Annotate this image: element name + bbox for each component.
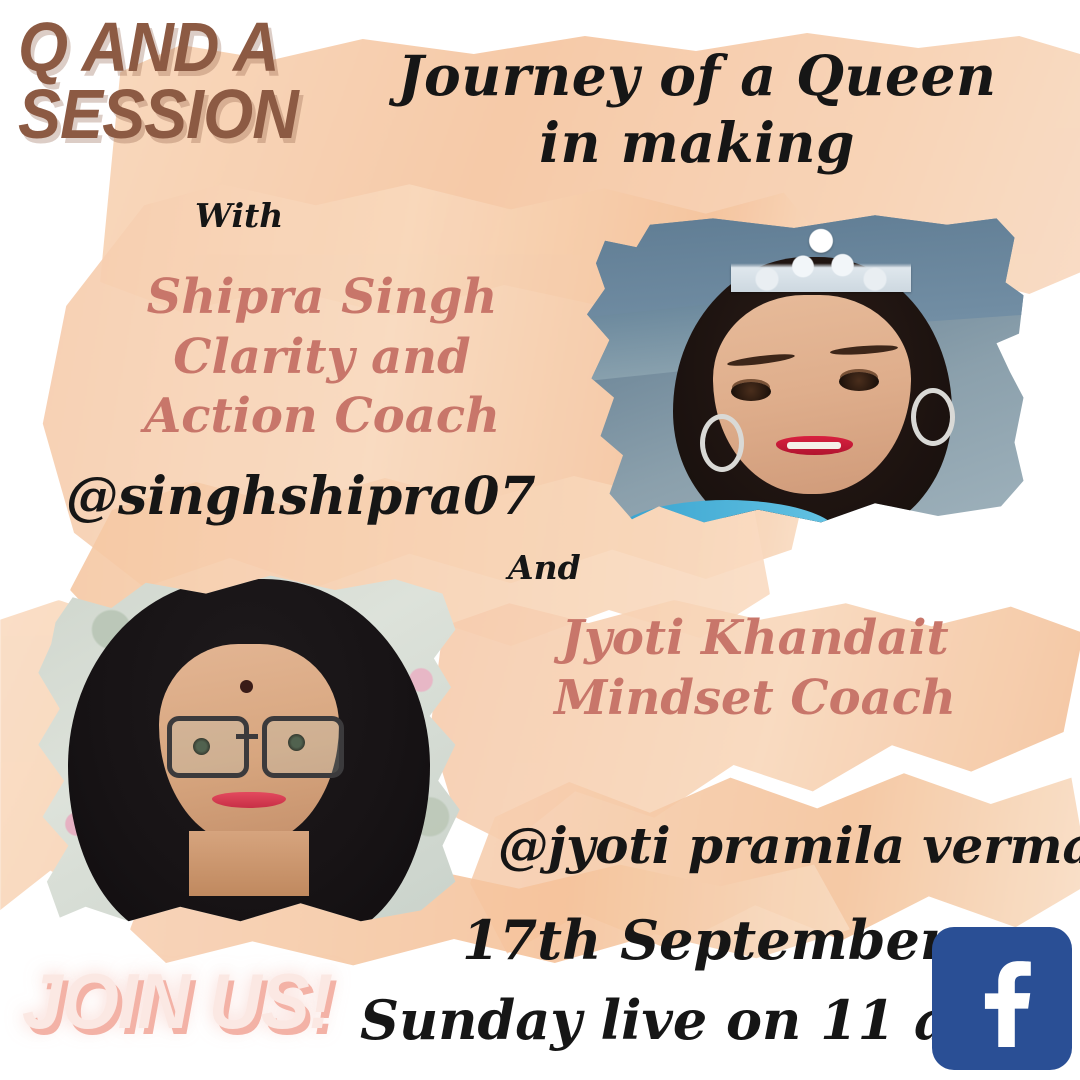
iris-right: [288, 734, 305, 751]
speaker-photo-jyoti: [34, 572, 464, 932]
tiara-icon: [731, 228, 911, 292]
event-flyer: Q AND A SESSION Journey of a Queen in ma…: [0, 0, 1080, 1080]
speaker-name-jyoti: Jyoti KhandaitMindset Coach: [540, 608, 970, 729]
speaker-handle-shipra[interactable]: @singhshipra07: [66, 466, 536, 527]
earring-right: [911, 388, 955, 446]
event-date: 17th September: [462, 908, 948, 972]
speaker-photo-shipra: [578, 212, 1028, 532]
eye-left: [731, 382, 771, 401]
speaker-title: Mindset Coach: [540, 668, 970, 728]
speaker-name: Jyoti Khandait: [540, 608, 970, 668]
page-title: Q AND A SESSION: [18, 14, 298, 147]
facebook-button[interactable]: [932, 927, 1072, 1070]
join-us-cta[interactable]: JOIN US!: [22, 962, 332, 1040]
earring-left: [700, 414, 744, 472]
event-time: Sunday live on 11 am: [360, 988, 1006, 1052]
speaker-handle-jyoti[interactable]: @jyoti pramila verma: [498, 816, 1080, 875]
facebook-icon: [959, 951, 1045, 1047]
speaker-name-shipra: Shipra SinghClarity and Action Coach: [92, 268, 552, 447]
neck-shape: [189, 831, 309, 896]
speaker-name: Shipra Singh: [92, 268, 552, 328]
eyeglass-bridge: [236, 734, 258, 739]
speaker-title: Clarity and Action Coach: [92, 328, 552, 447]
and-label: And: [508, 548, 581, 587]
with-label: With: [195, 196, 283, 235]
iris-left: [193, 738, 210, 755]
teeth-shape: [787, 442, 841, 449]
headline: Journey of a Queen in making: [382, 42, 1012, 176]
eye-right: [839, 372, 879, 391]
